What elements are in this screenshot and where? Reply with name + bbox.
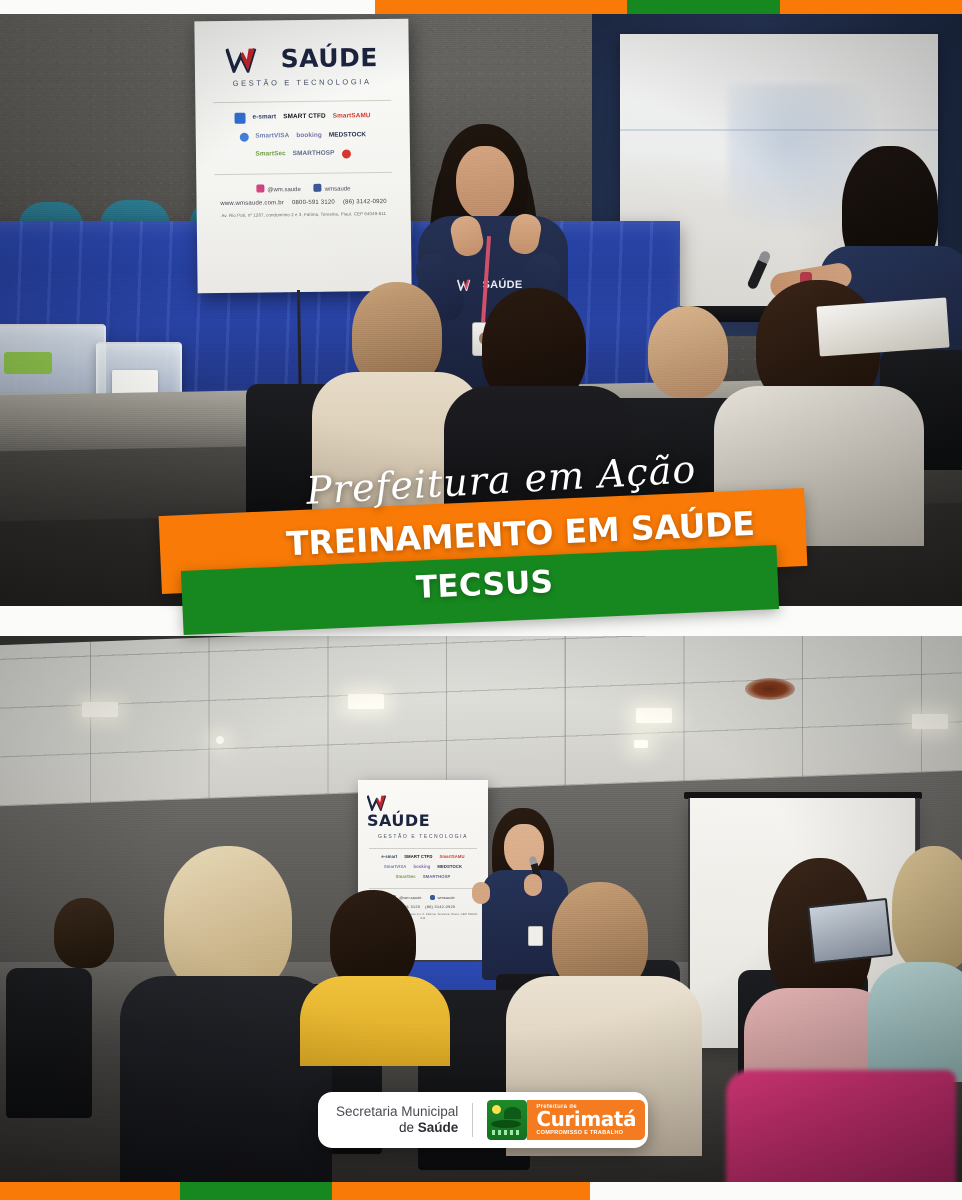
audience-head <box>330 890 416 990</box>
partner-logo-row: e-smart SMART CTFD SmartSAMU <box>234 111 370 124</box>
presenter-face <box>456 146 514 220</box>
prefeitura-label: Prefeitura de <box>536 1104 636 1110</box>
banner-contact-row: www.wmsaude.com.br 0800-591 3120 (86) 31… <box>213 199 395 207</box>
curimata-text-block: Prefeitura de Curimatá COMPROMISSO E TRA… <box>527 1100 645 1140</box>
wm-saude-tagline: GESTÃO E TECNOLOGIA <box>211 77 393 88</box>
partner-logo: SmartSAMU <box>333 113 371 120</box>
partner-logo: e-smart <box>252 115 276 122</box>
municipality-slogan: COMPROMISSO E TRABALHO <box>536 1130 636 1136</box>
ceiling-light <box>348 694 384 709</box>
laptop <box>807 898 893 964</box>
partner-logo-row: SmartVISA booking MEDSTOCK <box>239 131 366 142</box>
footer-logo-pill: Secretaria Municipal de Saúde Prefeitura… <box>318 1092 648 1148</box>
sun-shape <box>492 1105 501 1114</box>
brand-strip-segment <box>627 0 780 14</box>
partner-logo-grid: e-smart SMART CTFD SmartSAMU SmartVISA b… <box>211 111 394 160</box>
partner-logo: MEDSTOCK <box>437 865 462 869</box>
curimata-crest-icon <box>487 1100 527 1140</box>
brand-strip-segment <box>780 0 962 14</box>
brand-strip-segment <box>0 0 375 14</box>
instagram-icon <box>256 184 264 192</box>
partner-logo: SmartVISA <box>255 133 289 140</box>
partner-logo: SMART CTFD <box>404 855 432 859</box>
partner-logo: SmartSec <box>255 152 285 159</box>
id-badge <box>528 926 543 946</box>
audience-shoulders <box>120 976 332 1184</box>
ceiling-light <box>636 708 672 723</box>
presenter-hand <box>524 874 542 896</box>
secretaria-line-1: Secretaria Municipal <box>336 1104 458 1120</box>
partner-logo-row: e-smart SMART CTFD SmartSAMU <box>381 855 464 859</box>
partner-logo: SmartSAMU <box>439 855 464 859</box>
ceiling-light <box>82 702 118 717</box>
title-banner-block: Prefeitura em Ação TREINAMENTO EM SAÚDE … <box>0 440 962 660</box>
wm-saude-wordmark: SAÚDE <box>367 811 430 830</box>
cross-icon <box>234 113 245 124</box>
partner-logo-row: SmartSec SMARTHOSP <box>255 149 350 159</box>
audience-shoulders-yellow <box>300 976 450 1066</box>
shirt-wordmark: SAÚDE <box>482 279 522 291</box>
audience-head-blonde <box>164 846 292 996</box>
partner-logo: MEDSTOCK <box>329 133 366 140</box>
facebook-handle: wmsaude <box>430 895 455 900</box>
secretaria-municipal-de-saude-logo: Secretaria Municipal de Saúde <box>336 1104 458 1135</box>
brand-strip-segment <box>375 0 627 14</box>
ceiling-spot <box>216 736 224 744</box>
brand-strip-segment <box>590 1182 962 1200</box>
brand-strip-segment <box>332 1182 590 1200</box>
wm-monogram-icon <box>226 46 274 73</box>
banner-website: www.wmsaude.com.br <box>220 200 284 207</box>
wave-shape <box>492 1130 520 1135</box>
divider <box>472 1103 473 1137</box>
banner-phone-local: (86) 3142-0920 <box>343 199 387 206</box>
partner-logo: SmartVISA <box>384 865 407 869</box>
poster-canvas: SAÚDE GESTÃO E TECNOLOGIA e-smart SMART … <box>0 0 962 1200</box>
divider <box>213 100 391 103</box>
audience-head <box>648 306 728 398</box>
top-brand-strip <box>0 0 962 14</box>
banner-address: Av. Rio Poti, nº 1267, condomínio 2 e 3,… <box>213 211 395 218</box>
secretaria-line-2: de Saúde <box>336 1120 458 1136</box>
wm-saude-wordmark: SAÚDE <box>281 43 379 73</box>
ceiling-light <box>634 740 648 748</box>
partner-logo: booking <box>296 133 322 140</box>
banner-phone-tollfree: 0800-591 3120 <box>292 200 335 207</box>
foreground-pink-blur <box>726 1070 956 1184</box>
partner-logo: SmartSec <box>396 875 416 879</box>
presenter-hand <box>472 882 490 904</box>
partner-logo-grid: e-smart SMART CTFD SmartSAMU SmartVISA b… <box>367 855 479 880</box>
partner-logo: booking <box>413 865 430 869</box>
facebook-icon <box>430 895 435 900</box>
facebook-handle: wmsaude <box>314 183 351 192</box>
brand-strip-segment <box>180 1182 332 1200</box>
divider <box>369 848 477 849</box>
wm-monogram-icon <box>457 279 479 291</box>
rollup-banner-wm-saude: SAÚDE GESTÃO E TECNOLOGIA e-smart SMART … <box>194 19 411 294</box>
wm-saude-logo: SAÚDE <box>367 794 479 831</box>
notebook-paper <box>816 298 949 357</box>
instagram-handle: @wm.saude <box>256 184 301 194</box>
banner-social-row: @wm.saude wmsaude <box>212 183 394 194</box>
partner-logo: SMART CTFD <box>283 114 326 121</box>
audience-head <box>54 898 114 968</box>
partner-logo: SMARTHOSP <box>423 875 451 879</box>
partner-logo-row: SmartVISA booking MEDSTOCK <box>384 865 462 869</box>
bottom-brand-strip <box>0 1182 962 1200</box>
wm-monogram-icon <box>367 794 479 811</box>
brand-strip-segment <box>0 1182 180 1200</box>
dot-icon <box>239 133 248 142</box>
prefeitura-curimata-logo: Prefeitura de Curimatá COMPROMISSO E TRA… <box>487 1100 645 1140</box>
green-label-card <box>4 352 52 374</box>
partner-logo: SMARTHOSP <box>293 151 335 158</box>
gear-icon <box>341 149 350 158</box>
partner-logo-row: SmartSec SMARTHOSP <box>396 875 451 879</box>
title-line-tecsus: TECSUS <box>415 564 554 606</box>
chair-back <box>6 968 92 1118</box>
facebook-icon <box>314 184 322 192</box>
divider <box>214 172 392 175</box>
wm-saude-tagline: GESTÃO E TECNOLOGIA <box>367 834 479 840</box>
audience-head-blonde <box>892 846 962 972</box>
wm-saude-logo: SAÚDE <box>211 43 393 74</box>
fish-shape <box>491 1120 521 1128</box>
hill-shape <box>504 1107 521 1119</box>
ceiling-light <box>912 714 948 729</box>
audience-shoulders <box>868 962 962 1082</box>
divider <box>369 888 477 889</box>
ceiling-water-stain <box>745 678 795 700</box>
partner-logo: e-smart <box>381 855 397 859</box>
banner-phone-local: (86) 3142-0920 <box>425 904 455 909</box>
municipality-name: Curimatá <box>536 1110 636 1129</box>
